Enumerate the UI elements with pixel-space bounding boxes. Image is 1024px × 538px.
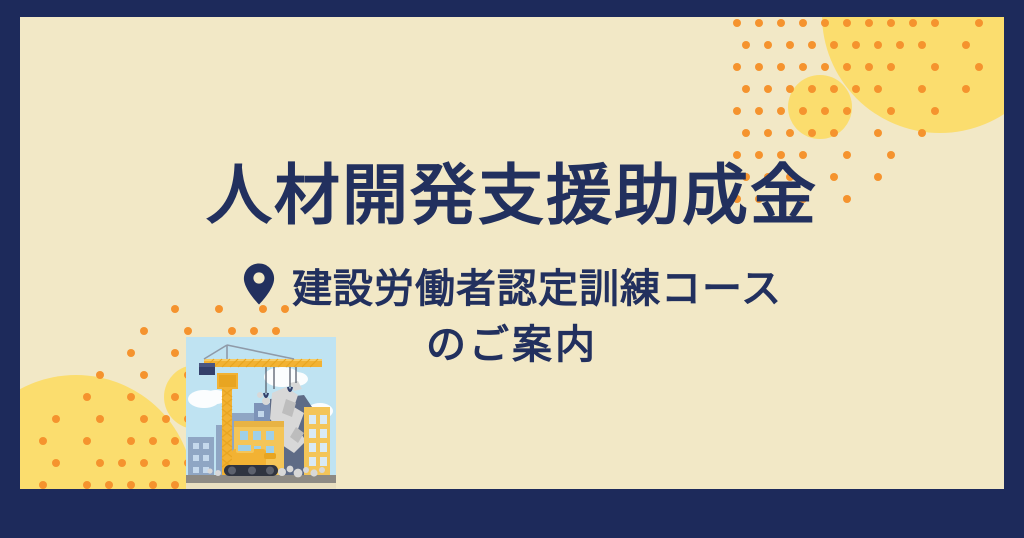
construction-illustration (186, 337, 336, 489)
poster-subtitle-line-2: のご案内 (0, 322, 1024, 368)
poster-title: 人材開発支援助成金 (0, 160, 1024, 231)
poster-content: 人材開発支援助成金 建設労働者認定訓練コース のご案内 (0, 0, 1024, 538)
poster-subtitle-line-1-text: 建設労働者認定訓練コース (292, 267, 782, 311)
location-pin-icon (242, 262, 276, 316)
poster-subtitle-line-1: 建設労働者認定訓練コース (0, 262, 1024, 316)
poster-banner: 人材開発支援助成金 建設労働者認定訓練コース のご案内 (0, 0, 1024, 538)
